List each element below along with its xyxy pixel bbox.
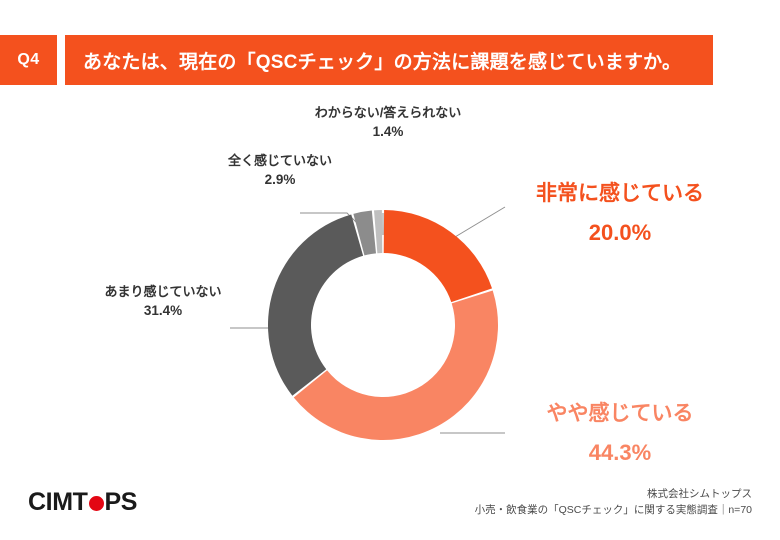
label-somewhat-value: 44.3% (500, 438, 740, 467)
label-not-at-all: 全く感じていない 2.9% (180, 152, 380, 189)
footer: CIMT PS 株式会社シムトップス 小売・飲食業の「QSCチェック」に関する実… (0, 476, 780, 540)
segment-strongly[interactable] (384, 210, 492, 302)
label-strongly: 非常に感じている 20.0% (500, 180, 740, 247)
segment-not-much[interactable] (268, 214, 363, 395)
logo-dot-icon (89, 496, 104, 511)
label-not-much-name: あまり感じていない (58, 283, 268, 300)
label-not-at-all-value: 2.9% (180, 171, 380, 189)
question-header: Q4 あなたは、現在の「QSCチェック」の方法に課題を感じていますか。 (0, 35, 713, 85)
segment-somewhat[interactable] (294, 291, 498, 440)
label-not-at-all-name: 全く感じていない (180, 152, 380, 169)
label-not-much: あまり感じていない 31.4% (58, 283, 268, 320)
donut-segments (268, 210, 498, 440)
logo-text-part2: PS (105, 488, 138, 517)
footer-company: 株式会社シムトップス (475, 486, 752, 502)
label-strongly-value: 20.0% (500, 218, 740, 247)
question-number-badge: Q4 (0, 35, 57, 85)
label-unknown-value: 1.4% (283, 123, 493, 141)
question-title: あなたは、現在の「QSCチェック」の方法に課題を感じていますか。 (65, 35, 713, 85)
label-unknown-name: わからない/答えられない (283, 104, 493, 121)
leader-line-strongly (450, 207, 505, 240)
logo-text-part1: CIMT (28, 488, 88, 517)
footer-survey: 小売・飲食業の「QSCチェック」に関する実態調査｜n=70 (475, 502, 752, 518)
cimtops-logo: CIMT PS (28, 488, 137, 517)
footer-credits: 株式会社シムトップス 小売・飲食業の「QSCチェック」に関する実態調査｜n=70 (475, 486, 752, 519)
label-somewhat-name: やや感じている (500, 400, 740, 428)
label-not-much-value: 31.4% (58, 302, 268, 320)
label-somewhat: やや感じている 44.3% (500, 400, 740, 467)
label-unknown: わからない/答えられない 1.4% (283, 104, 493, 141)
label-strongly-name: 非常に感じている (500, 180, 740, 208)
slide-root: Q4 あなたは、現在の「QSCチェック」の方法に課題を感じていますか。 (0, 0, 780, 540)
